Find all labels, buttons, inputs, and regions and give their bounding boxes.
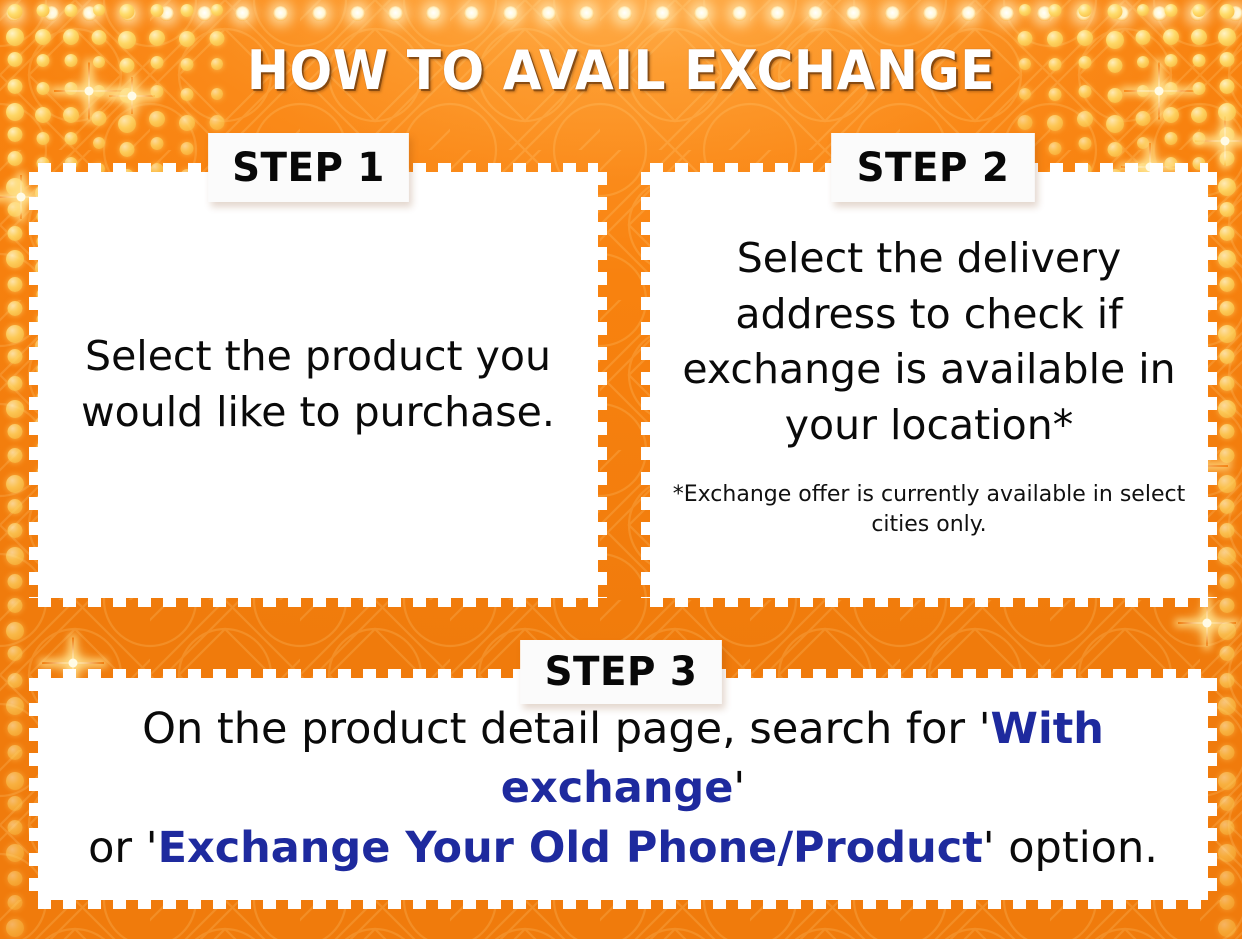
step-card-1: Select the product you would like to pur… — [38, 172, 598, 598]
promo-banner: HOW TO AVAIL EXCHANGE Select the product… — [0, 0, 1242, 939]
card-perforation-right — [1208, 172, 1217, 598]
card-perforation-left — [29, 678, 38, 900]
step-3-line-1: On the product detail page, search for '… — [142, 704, 1104, 813]
step-2-footnote: *Exchange offer is currently available i… — [668, 480, 1190, 539]
step-badge-2: STEP 2 — [831, 133, 1035, 202]
card-perforation-bottom — [650, 598, 1208, 607]
step-card-1-body: Select the product you would like to pur… — [38, 172, 598, 598]
step-card-2: Select the delivery address to check if … — [650, 172, 1208, 598]
card-perforation-right — [598, 172, 607, 598]
card-perforation-bottom — [38, 598, 598, 607]
card-perforation-bottom — [38, 900, 1208, 909]
step-card-3: On the product detail page, search for '… — [38, 678, 1208, 900]
card-perforation-left — [29, 172, 38, 598]
step-3-text: On the product detail page, search for '… — [64, 700, 1182, 878]
step-1-text: Select the product you would like to pur… — [64, 329, 572, 441]
step-card-3-body: On the product detail page, search for '… — [38, 678, 1208, 900]
step-badge-1: STEP 1 — [208, 133, 409, 202]
step-3-line-2: or 'Exchange Your Old Phone/Product' opt… — [88, 823, 1158, 873]
card-perforation-left — [641, 172, 650, 598]
exchange-old-phone-keyword: Exchange Your Old Phone/Product — [158, 823, 983, 873]
step-2-text: Select the delivery address to check if … — [668, 231, 1190, 454]
step-card-2-body: Select the delivery address to check if … — [650, 172, 1208, 598]
card-perforation-right — [1208, 678, 1217, 900]
page-title: HOW TO AVAIL EXCHANGE — [43, 44, 1198, 98]
step-badge-3: STEP 3 — [520, 640, 722, 704]
